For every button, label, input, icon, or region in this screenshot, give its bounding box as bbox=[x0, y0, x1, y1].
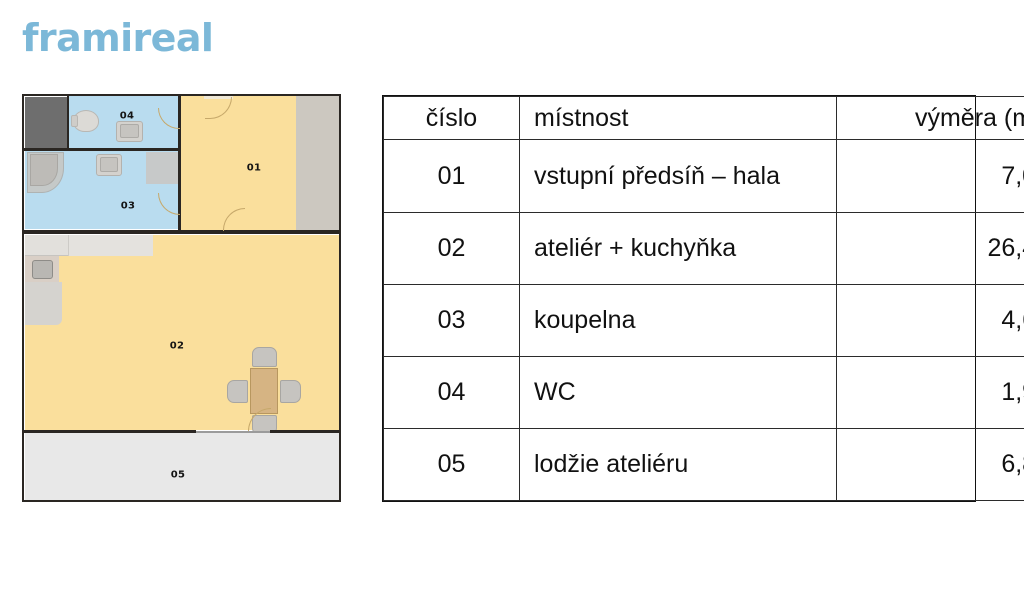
shaft-block bbox=[25, 97, 68, 148]
table-row: 03 koupelna 4,65 bbox=[384, 284, 1024, 356]
table-row: 01 vstupní předsíň – hala 7,01 bbox=[384, 140, 1024, 213]
wall-02-05 bbox=[24, 430, 196, 433]
room-label-01: 01 bbox=[247, 163, 262, 174]
table-row: 04 WC 1,91 bbox=[384, 356, 1024, 428]
cell-number: 04 bbox=[384, 356, 520, 428]
chair-right bbox=[280, 380, 301, 403]
room-label-02: 02 bbox=[170, 341, 185, 352]
brand-logo: framireal bbox=[22, 19, 213, 57]
room-label-05: 05 bbox=[171, 470, 186, 481]
room-area-table: číslo místnost výměra (m2) 01 vstupní př… bbox=[382, 95, 976, 502]
wall-04-03 bbox=[24, 148, 181, 151]
room-05-area bbox=[25, 433, 339, 500]
cell-number: 05 bbox=[384, 428, 520, 500]
cell-area: 7,01 bbox=[837, 140, 1024, 213]
cell-area: 1,91 bbox=[837, 356, 1024, 428]
chair-top bbox=[252, 347, 277, 367]
cell-number: 03 bbox=[384, 284, 520, 356]
table-body: 01 vstupní předsíň – hala 7,01 02 atelié… bbox=[384, 140, 1024, 501]
wall-shaft-right bbox=[67, 96, 69, 149]
cell-room: koupelna bbox=[520, 284, 837, 356]
header-area: výměra (m2) bbox=[837, 97, 1024, 140]
table-row: 05 lodžie ateliéru 6,80 bbox=[384, 428, 1024, 500]
cell-area: 4,65 bbox=[837, 284, 1024, 356]
built-in-closet bbox=[296, 96, 339, 230]
toilet-tank bbox=[71, 115, 78, 127]
room-label-03: 03 bbox=[121, 201, 136, 212]
kitchen-sink-icon bbox=[32, 260, 53, 279]
wc-sink-basin bbox=[120, 124, 139, 138]
dining-table bbox=[250, 368, 278, 414]
kitchen-counter-top-2 bbox=[68, 235, 153, 256]
cell-room: WC bbox=[520, 356, 837, 428]
chair-left bbox=[227, 380, 248, 403]
cell-area: 6,80 bbox=[837, 428, 1024, 500]
bathroom-cabinet bbox=[146, 152, 180, 184]
wall-above-02 bbox=[24, 230, 339, 234]
cell-room: lodžie ateliéru bbox=[520, 428, 837, 500]
table-header-row: číslo místnost výměra (m2) bbox=[384, 97, 1024, 140]
room-label-04: 04 bbox=[120, 111, 135, 122]
header-number: číslo bbox=[384, 97, 520, 140]
cell-number: 01 bbox=[384, 140, 520, 213]
wall-balcony-rail bbox=[196, 431, 270, 433]
cell-number: 02 bbox=[384, 212, 520, 284]
bathroom-sink-basin bbox=[100, 157, 118, 172]
kitchen-counter-left-2 bbox=[25, 282, 62, 325]
cell-room: vstupní předsíň – hala bbox=[520, 140, 837, 213]
cell-area: 26,41 bbox=[837, 212, 1024, 284]
table-row: 02 ateliér + kuchyňka 26,41 bbox=[384, 212, 1024, 284]
cell-room: ateliér + kuchyňka bbox=[520, 212, 837, 284]
header-area-text: výměra (m bbox=[915, 104, 1024, 132]
floor-plan: 04 03 01 02 05 bbox=[22, 94, 341, 502]
wall-02-05-right bbox=[270, 430, 339, 433]
header-room: místnost bbox=[520, 97, 837, 140]
